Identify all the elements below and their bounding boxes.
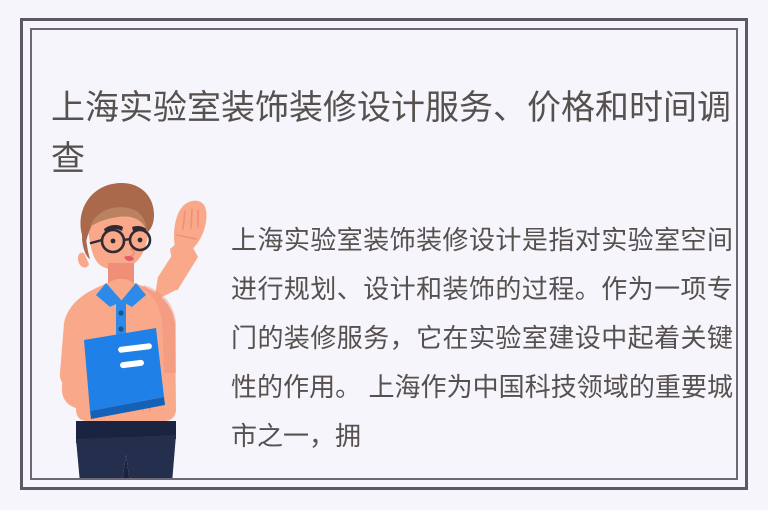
eye-right — [138, 238, 143, 243]
illustration-man-waving-holding-book — [46, 173, 216, 480]
article-body-text: 上海实验室装饰装修设计是指对实验室空间进行规划、设计和装饰的过程。作为一项专门的… — [231, 216, 733, 461]
article-card-inner-frame: 上海实验室装饰装修设计服务、价格和时间调查 — [30, 28, 738, 480]
illustration-svg — [46, 173, 216, 480]
shirt-button-bottom — [118, 326, 123, 331]
shirt-button-top — [118, 310, 123, 315]
eye-left — [111, 239, 116, 244]
article-card: 上海实验室装饰装修设计服务、价格和时间调查 — [20, 18, 748, 490]
page-title: 上海实验室装饰装修设计服务、价格和时间调查 — [51, 83, 738, 185]
book-cover — [84, 328, 164, 411]
